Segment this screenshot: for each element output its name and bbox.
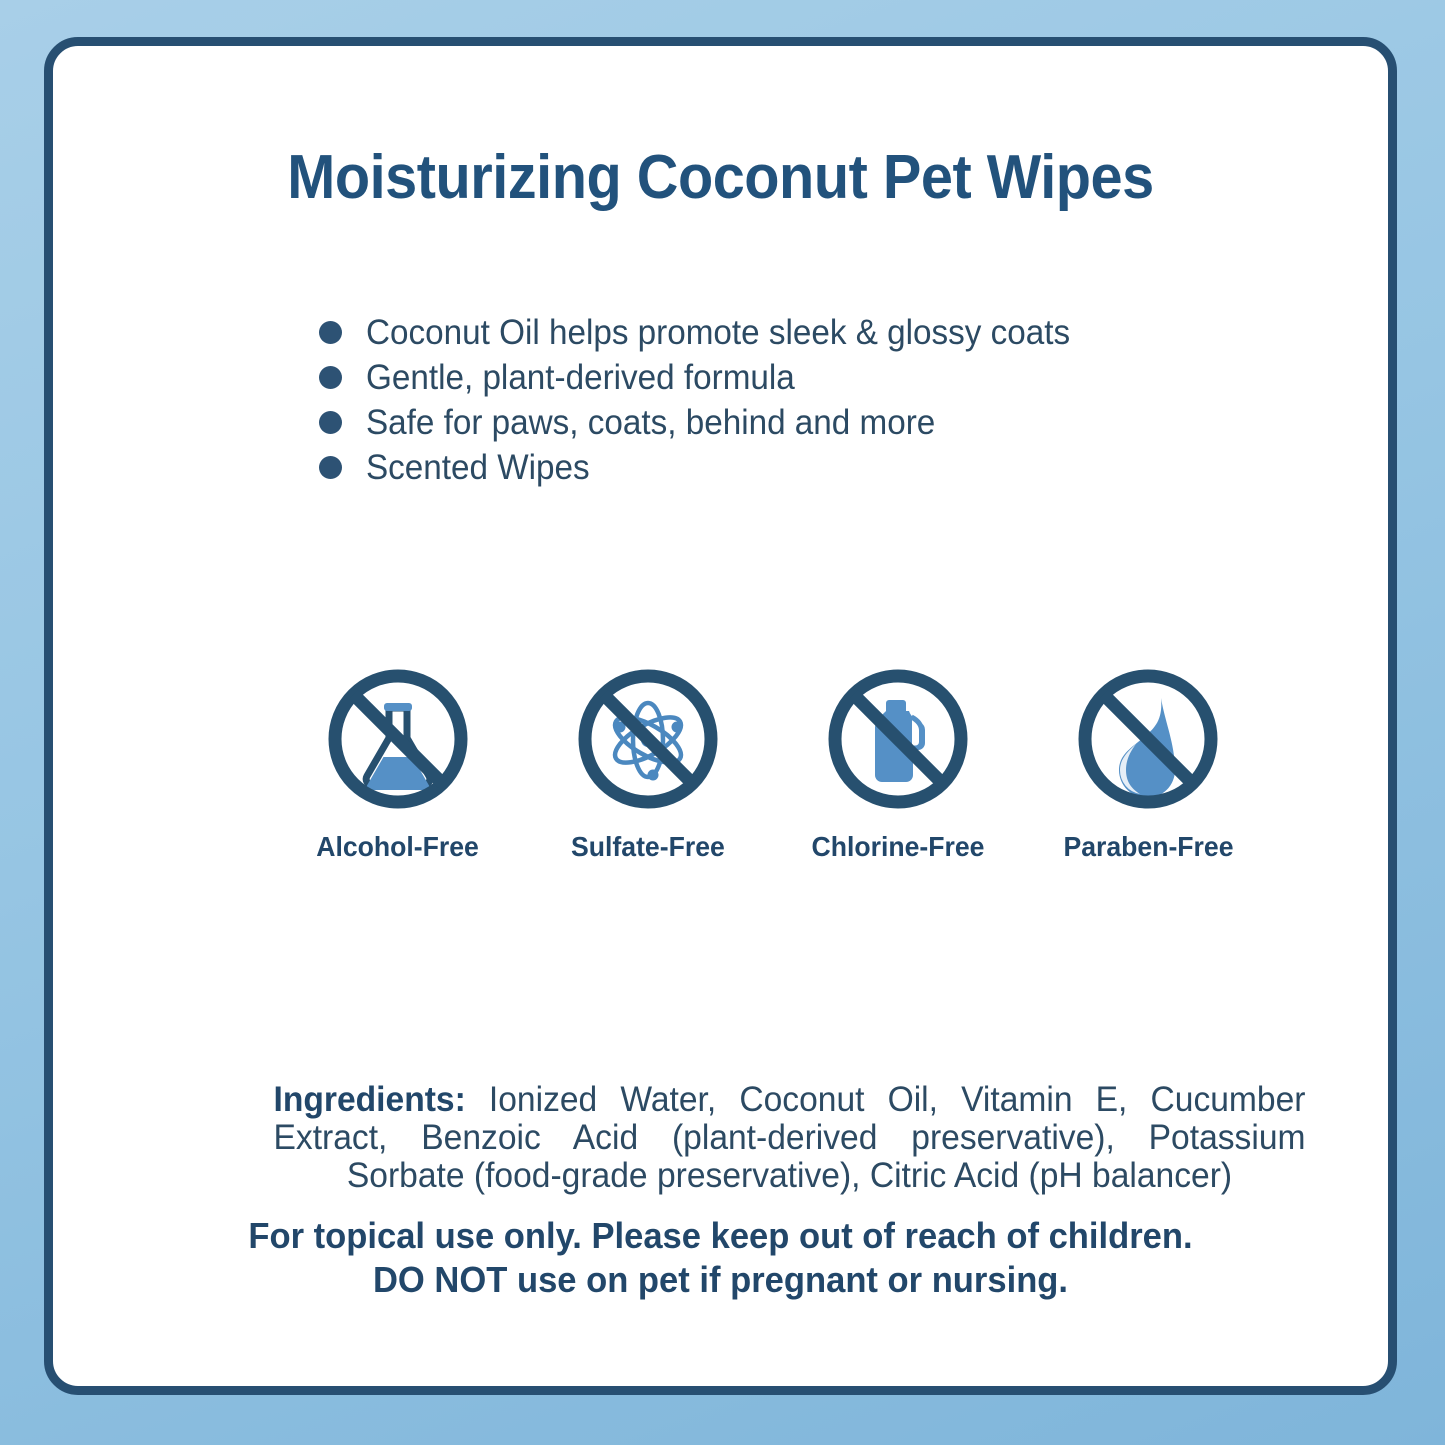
warning-line-1: For topical use only. Please keep out of… [80, 1214, 1362, 1258]
no-droplet-icon [1073, 664, 1223, 814]
warning-text: For topical use only. Please keep out of… [80, 1214, 1362, 1302]
badge-label: Sulfate-Free [571, 831, 725, 863]
badge-chlorine-free: Chlorine-Free [808, 664, 988, 863]
badge-paraben-free: Paraben-Free [1058, 664, 1238, 863]
no-flask-icon [323, 664, 473, 814]
info-card: Moisturizing Coconut Pet Wipes Coconut O… [44, 37, 1397, 1395]
feature-bullet-list: Coconut Oil helps promote sleek & glossy… [319, 310, 1107, 490]
bullet-label: Gentle, plant-derived formula [366, 358, 795, 398]
bullet-label: Safe for paws, coats, behind and more [366, 403, 935, 443]
no-jug-icon [823, 664, 973, 814]
list-item: Safe for paws, coats, behind and more [319, 400, 1107, 445]
bullet-dot-icon [319, 411, 342, 434]
free-from-badge-row: Alcohol-Free Sulfate-Free [308, 664, 1238, 863]
list-item: Scented Wipes [319, 445, 1107, 490]
ingredients-label: Ingredients: [274, 1080, 466, 1119]
warning-line-2: DO NOT use on pet if pregnant or nursing… [80, 1258, 1362, 1302]
bullet-dot-icon [319, 456, 342, 479]
bullet-label: Scented Wipes [366, 448, 590, 488]
product-infographic: Moisturizing Coconut Pet Wipes Coconut O… [0, 0, 1445, 1445]
list-item: Gentle, plant-derived formula [319, 355, 1107, 400]
bullet-label: Coconut Oil helps promote sleek & glossy… [366, 313, 1070, 353]
badge-label: Paraben-Free [1063, 831, 1233, 863]
ingredients-paragraph: Ingredients: Ionized Water, Coconut Oil,… [274, 1081, 1306, 1195]
no-atom-icon [573, 664, 723, 814]
page-title: Moisturizing Coconut Pet Wipes [100, 142, 1342, 213]
badge-sulfate-free: Sulfate-Free [558, 664, 738, 863]
bullet-dot-icon [319, 321, 342, 344]
badge-label: Chlorine-Free [812, 831, 985, 863]
bullet-dot-icon [319, 366, 342, 389]
badge-alcohol-free: Alcohol-Free [308, 664, 488, 863]
list-item: Coconut Oil helps promote sleek & glossy… [319, 310, 1107, 355]
badge-label: Alcohol-Free [317, 831, 480, 863]
